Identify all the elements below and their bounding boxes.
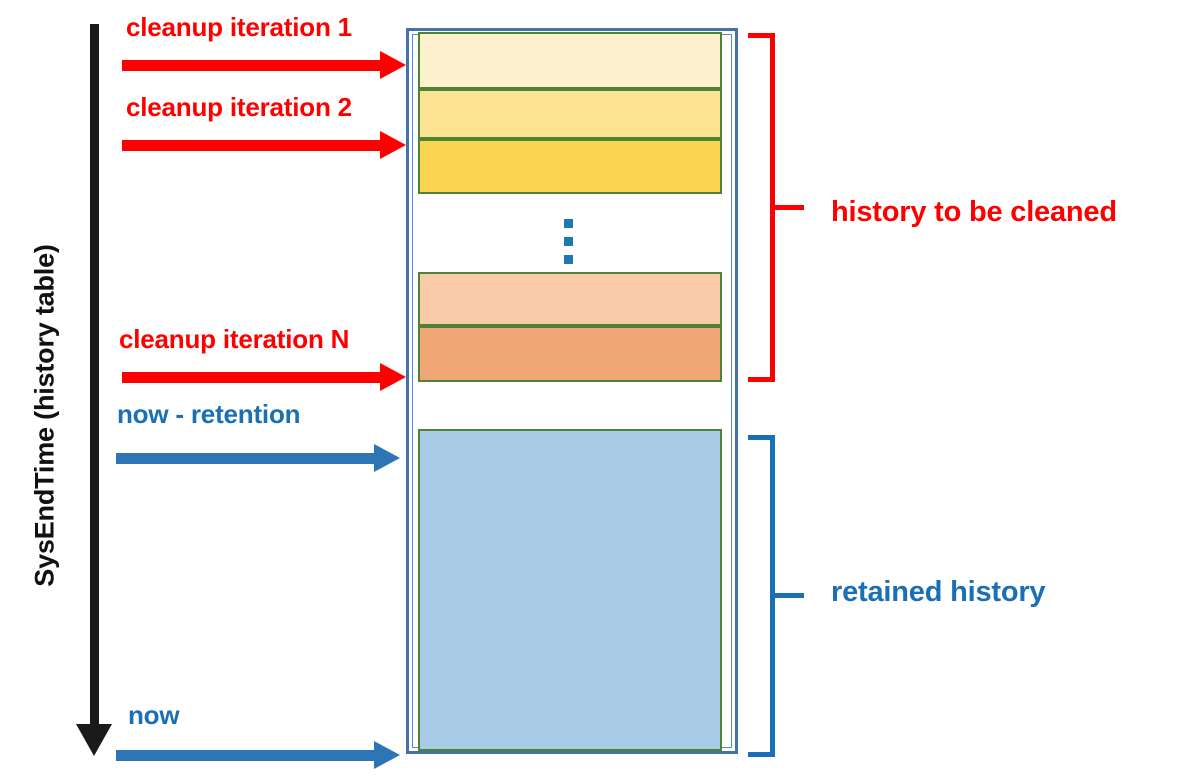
cleanup-iteration-1-label: cleanup iteration 1 (126, 12, 352, 43)
now-label: now (128, 700, 179, 731)
retained-history-label: retained history (831, 576, 1045, 609)
axis-label: SysEndTime (history table) (30, 86, 61, 746)
history-band-2 (418, 89, 722, 139)
cleanup-iteration-2-label: cleanup iteration 2 (126, 92, 352, 123)
now-minus-retention-label: now - retention (117, 399, 300, 430)
cleanup-iteration-n-label: cleanup iteration N (119, 324, 349, 355)
vertical-ellipsis-icon (564, 219, 573, 273)
sysendtime-axis-line (90, 24, 99, 729)
diagram-canvas: SysEndTime (history table) cleanup itera… (0, 0, 1200, 780)
history-band-4 (418, 272, 722, 326)
history-band-5 (418, 326, 722, 382)
history-band-1 (418, 32, 722, 89)
history-band-3 (418, 139, 722, 194)
history-to-be-cleaned-label: history to be cleaned (831, 196, 1117, 229)
sysendtime-axis-arrowhead-icon (76, 724, 112, 756)
retained-history-block (418, 429, 722, 751)
